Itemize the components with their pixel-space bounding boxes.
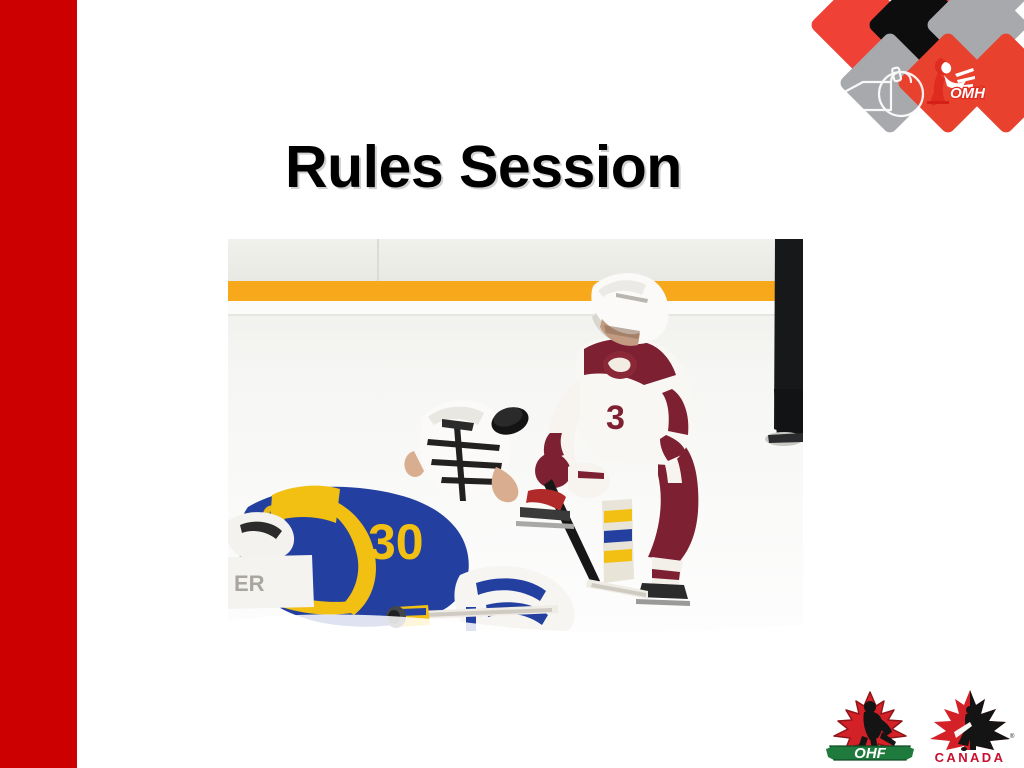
svg-text:ER: ER	[234, 571, 265, 596]
page-title: Rules Session	[285, 137, 905, 199]
footer-logos: OHF ® CANADA	[826, 688, 1016, 764]
kickplate	[228, 281, 803, 301]
goalie-blocker-pad	[602, 499, 634, 583]
forward-jersey-number: 3	[606, 399, 625, 437]
slide-canvas: OMHA ™ Rules Session	[0, 0, 1024, 768]
ohf-wordmark: OHF	[854, 745, 887, 762]
left-accent-bar	[0, 0, 77, 768]
ohf-logo: OHF	[826, 690, 914, 764]
hockey-canada-logo: ® CANADA	[924, 688, 1016, 764]
canada-wordmark: CANADA	[935, 750, 1006, 764]
goalie-jersey-number: 30	[368, 514, 424, 570]
omha-logo: OMHA ™	[818, 0, 1024, 160]
svg-text:®: ®	[1010, 733, 1015, 740]
hockey-action-photo: 3	[228, 239, 803, 636]
